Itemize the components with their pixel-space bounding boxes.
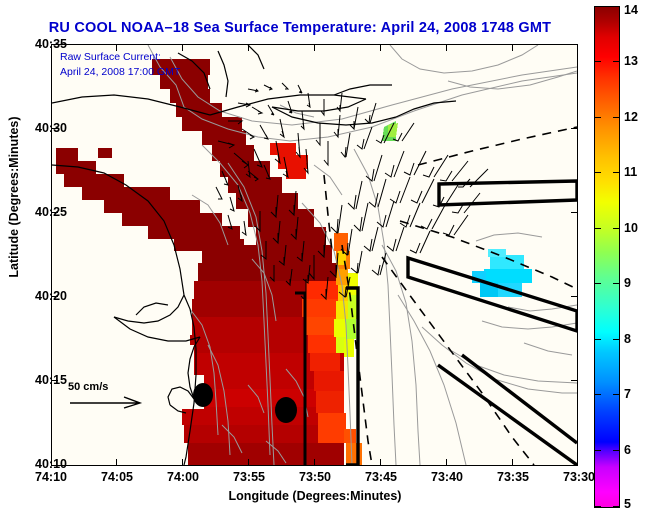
cbar-label-5: 9 xyxy=(624,276,631,290)
y-axis-label: Latitude (Degrees:Minutes) xyxy=(7,97,21,297)
xtick-7: 73:35 xyxy=(483,470,543,484)
cbar-label-8: 6 xyxy=(624,443,631,457)
ytick-2: 40:25 xyxy=(21,205,67,219)
xtick-3: 73:55 xyxy=(219,470,279,484)
cbar-label-4: 10 xyxy=(624,221,638,235)
ytick-5: 40:10 xyxy=(21,457,67,471)
x-axis-label: Longitude (Degrees:Minutes) xyxy=(150,489,480,503)
xtick-1: 74:05 xyxy=(87,470,147,484)
page-title: RU COOL NOAA–18 Sea Surface Temperature:… xyxy=(0,20,600,36)
cbar-label-2: 12 xyxy=(624,110,638,124)
xtick-5: 73:45 xyxy=(351,470,411,484)
annotation-line-2: April 24, 2008 17:00 GMT xyxy=(60,65,180,80)
xtick-6: 73:40 xyxy=(417,470,477,484)
annotation-line-1: Raw Surface Current: xyxy=(60,50,180,65)
cbar-label-1: 13 xyxy=(624,54,638,68)
xtick-4: 73:50 xyxy=(285,470,345,484)
velocity-scale-bar: 50 cm/s xyxy=(68,381,146,411)
ytick-3: 40:20 xyxy=(21,289,67,303)
scale-bar-arrow-icon xyxy=(68,395,146,411)
scale-bar-label: 50 cm/s xyxy=(68,381,146,393)
cbar-label-0: 14 xyxy=(624,3,638,17)
cbar-label-7: 7 xyxy=(624,387,631,401)
cbar-label-3: 11 xyxy=(624,165,637,179)
ytick-0: 40:35 xyxy=(21,37,67,51)
ytick-1: 40:30 xyxy=(21,121,67,135)
xtick-0: 74:10 xyxy=(21,470,81,484)
sst-map-plot: Raw Surface Current: April 24, 2008 17:0… xyxy=(51,44,578,466)
temperature-colorbar xyxy=(594,6,620,508)
ytick-4: 40:15 xyxy=(21,373,67,387)
xtick-2: 74:00 xyxy=(153,470,213,484)
cbar-label-9: 5 xyxy=(624,497,631,511)
cbar-label-6: 8 xyxy=(624,332,631,346)
current-annotation: Raw Surface Current: April 24, 2008 17:0… xyxy=(60,50,180,80)
